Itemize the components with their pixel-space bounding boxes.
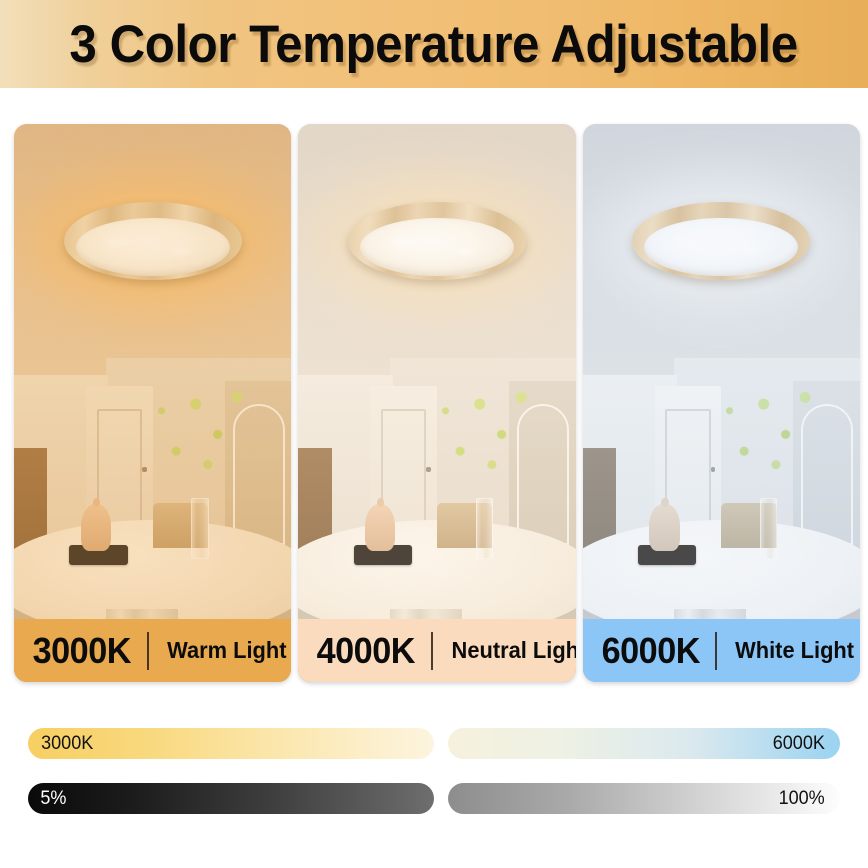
card-3000k[interactable]: 3000K Warm Light: [14, 124, 291, 682]
lamp-diffuser: [76, 218, 230, 276]
caption-divider: [715, 632, 717, 670]
kelvin-value: 4000K: [317, 630, 415, 672]
glass-vase: [760, 498, 777, 559]
lamp-wood-rim: [348, 202, 526, 280]
plant-branches: [426, 347, 548, 514]
room-scene-4000k: [298, 124, 575, 682]
plant-branches: [710, 347, 832, 514]
lamp-diffuser: [644, 218, 798, 276]
brightness-scale-right-segment[interactable]: 100%: [448, 783, 840, 814]
caption-divider: [147, 632, 149, 670]
light-mode-name: White Light: [735, 637, 854, 664]
lamp-wood-rim: [632, 202, 810, 280]
lamp-highlight: [740, 247, 760, 255]
kelvin-value: 3000K: [33, 630, 131, 672]
lamp-highlight: [106, 237, 132, 247]
teapot-lid-knob: [661, 498, 668, 507]
ct-scale-max-label: 6000K: [773, 733, 839, 755]
glass-vase: [476, 498, 493, 559]
lamp-highlight: [455, 247, 475, 255]
room-scene-6000k: [583, 124, 860, 682]
caption-3000k: 3000K Warm Light: [14, 619, 291, 682]
lamp-wood-rim: [64, 202, 242, 280]
color-temperature-card-row: 3000K Warm Light: [14, 124, 860, 682]
ceiling-lamp-3000k: [64, 202, 242, 280]
teapot: [365, 504, 396, 551]
ceiling-lamp-4000k: [348, 202, 526, 280]
ct-scale-right-segment[interactable]: 6000K: [448, 728, 840, 759]
caption-4000k: 4000K Neutral Light: [298, 619, 575, 682]
card-6000k[interactable]: 6000K White Light: [583, 124, 860, 682]
lamp-highlight: [391, 237, 417, 247]
kelvin-value: 6000K: [601, 630, 699, 672]
plant-branches: [142, 347, 264, 514]
ct-scale-min-label: 3000K: [30, 733, 94, 755]
caption-6000k: 6000K White Light: [583, 619, 860, 682]
caption-divider: [431, 632, 433, 670]
brightness-min-label: 5%: [29, 788, 66, 810]
ceiling-lamp-6000k: [632, 202, 810, 280]
brightness-max-label: 100%: [779, 788, 838, 810]
teapot: [81, 504, 112, 551]
lamp-highlight: [675, 237, 701, 247]
card-4000k[interactable]: 4000K Neutral Light: [298, 124, 575, 682]
light-mode-name: Warm Light: [167, 637, 286, 664]
brightness-scale-left-segment[interactable]: 5%: [28, 783, 434, 814]
color-temperature-scale[interactable]: 3000K 6000K: [28, 728, 840, 759]
product-feature-page: 3 Color Temperature Adjustable: [0, 0, 868, 868]
room-scene-3000k: [14, 124, 291, 682]
header-banner: 3 Color Temperature Adjustable: [0, 0, 868, 88]
teapot-lid-knob: [93, 498, 100, 507]
lamp-diffuser: [360, 218, 514, 276]
scale-bars: 3000K 6000K 5% 100%: [28, 728, 840, 814]
teapot: [649, 504, 680, 551]
ct-scale-left-segment[interactable]: 3000K: [28, 728, 434, 759]
brightness-scale[interactable]: 5% 100%: [28, 783, 840, 814]
lamp-highlight: [171, 247, 191, 255]
page-title: 3 Color Temperature Adjustable: [70, 14, 798, 75]
light-mode-name: Neutral Light: [451, 637, 575, 664]
glass-vase: [191, 498, 208, 559]
